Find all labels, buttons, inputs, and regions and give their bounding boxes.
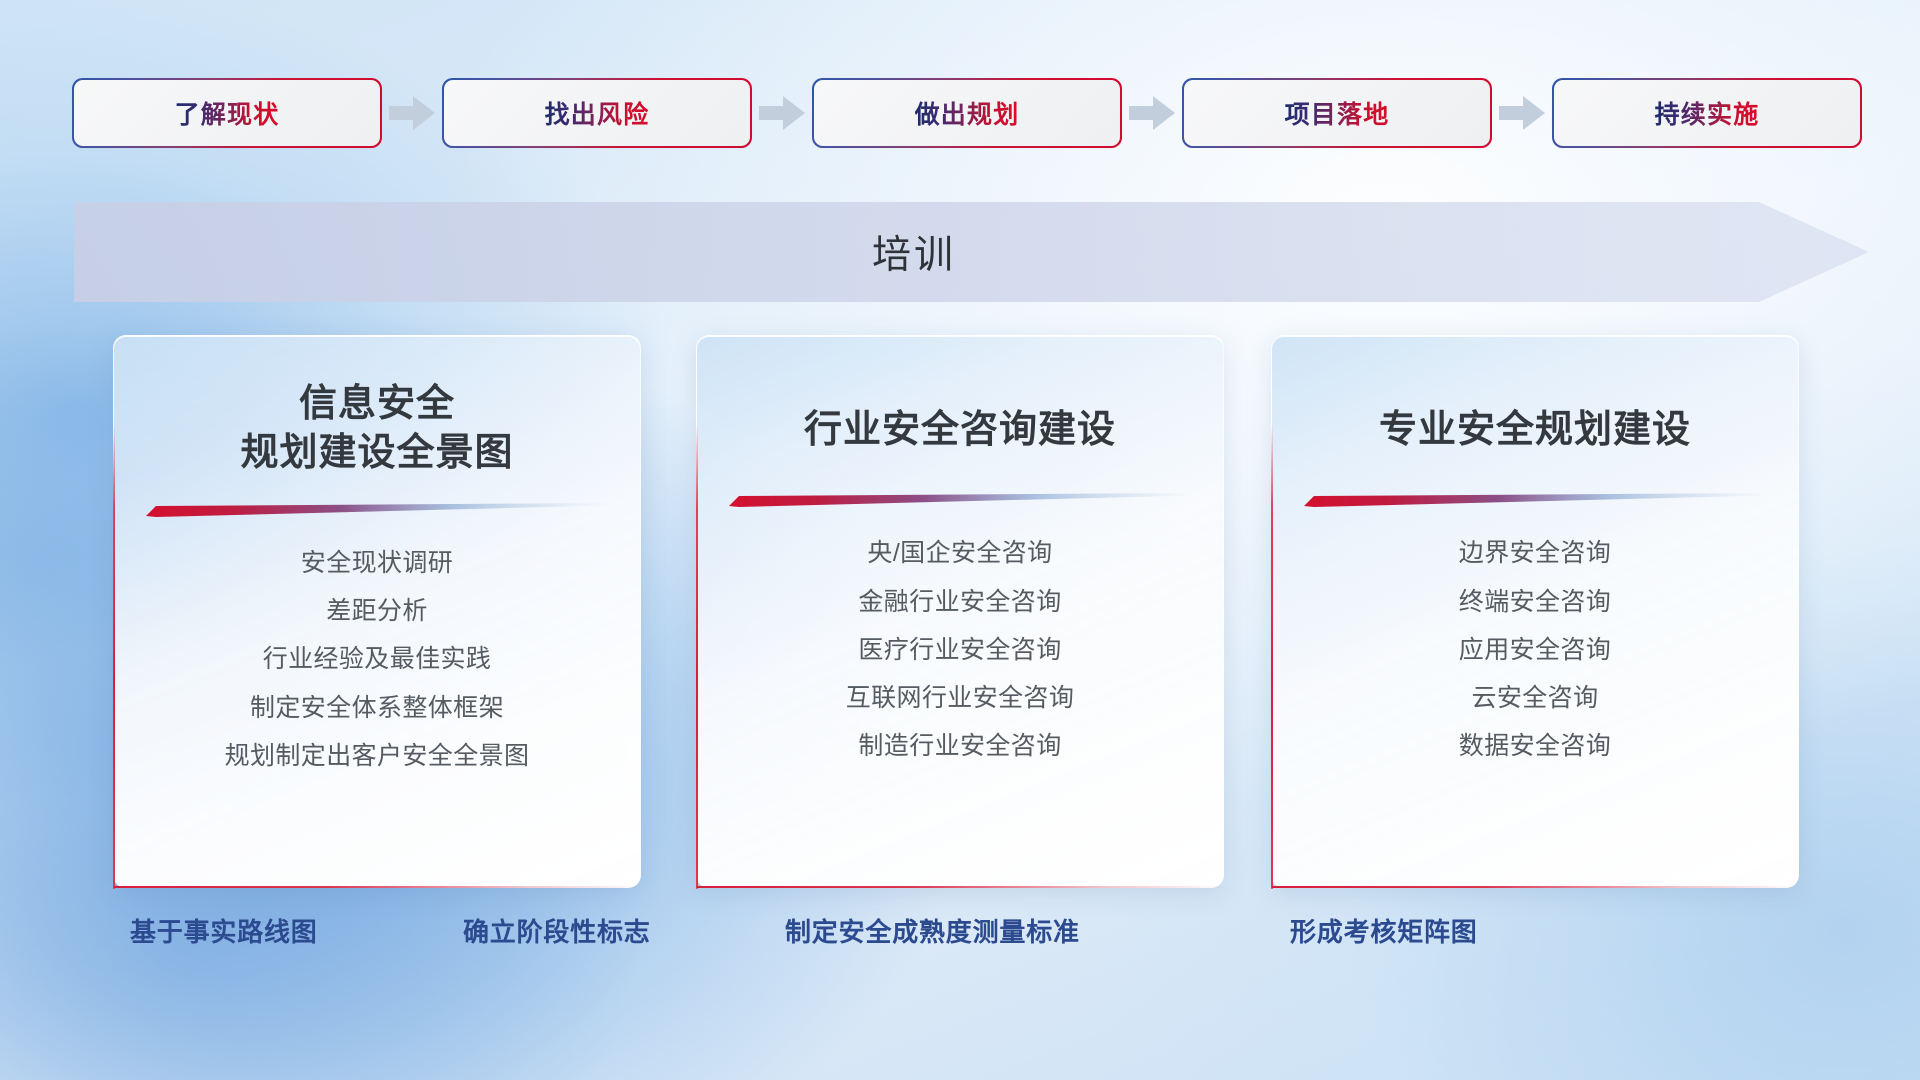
card-info-security-panorama[interactable]: 信息安全 规划建设全景图 — [113, 335, 641, 888]
card-divider-3 — [1304, 493, 1766, 507]
card-list-item: 医疗行业安全咨询 — [858, 632, 1061, 668]
card-list-item: 边界安全咨询 — [1459, 535, 1611, 571]
process-arrow-1 — [380, 80, 444, 146]
card-list-item: 制定安全体系整体框架 — [250, 690, 504, 726]
process-arrow-3 — [1120, 80, 1184, 146]
card-list-item: 规划制定出客户安全全景图 — [225, 738, 530, 774]
caption-roadmap: 基于事实路线图 — [130, 912, 318, 949]
card-list-item: 制造行业安全咨询 — [858, 728, 1061, 764]
process-arrow-2 — [750, 80, 814, 146]
card-industry-security-consulting[interactable]: 行业安全咨询建设 — [696, 335, 1224, 888]
caption-maturity-standard: 制定安全成熟度测量标准 — [785, 912, 1080, 949]
card-list-1: 安全现状调研 差距分析 行业经验及最佳实践 制定安全体系整体框架 规划制定出客户… — [144, 545, 610, 774]
card-list-item: 云安全咨询 — [1471, 680, 1598, 716]
process-step-4-label: 项目落地 — [1285, 95, 1390, 131]
process-step-3-label: 做出规划 — [915, 95, 1020, 131]
card-list-item: 互联网行业安全咨询 — [846, 680, 1075, 716]
card-list-item: 应用安全咨询 — [1459, 632, 1611, 668]
card-list-item: 差距分析 — [326, 593, 428, 629]
card-title-3: 专业安全规划建设 — [1379, 406, 1691, 455]
process-step-row: 了解现状 找出风险 做出规划 项目落地 — [74, 80, 1864, 146]
process-step-1-label: 了解现状 — [175, 95, 280, 131]
caption-row: 基于事实路线图 确立阶段性标志 制定安全成熟度测量标准 形成考核矩阵图 — [0, 912, 1920, 962]
training-banner: 培训 — [74, 202, 1869, 302]
process-step-4[interactable]: 项目落地 — [1184, 80, 1490, 146]
card-professional-security-planning[interactable]: 专业安全规划建设 — [1271, 335, 1799, 888]
process-step-1[interactable]: 了解现状 — [74, 80, 380, 146]
card-list-item: 终端安全咨询 — [1459, 584, 1611, 620]
process-step-5-label: 持续实施 — [1655, 95, 1760, 131]
process-step-3[interactable]: 做出规划 — [814, 80, 1120, 146]
card-list-2: 央/国企安全咨询 金融行业安全咨询 医疗行业安全咨询 互联网行业安全咨询 制造行… — [727, 535, 1193, 764]
caption-milestones: 确立阶段性标志 — [463, 912, 651, 949]
card-divider-1 — [146, 503, 608, 517]
card-row: 信息安全 规划建设全景图 — [0, 335, 1920, 895]
card-list-item: 安全现状调研 — [301, 545, 453, 581]
process-arrow-4 — [1490, 80, 1554, 146]
process-step-5[interactable]: 持续实施 — [1554, 80, 1860, 146]
card-title-2: 行业安全咨询建设 — [804, 406, 1116, 455]
card-list-item: 行业经验及最佳实践 — [263, 641, 492, 677]
card-title-1: 信息安全 规划建设全景图 — [240, 380, 513, 479]
card-list-3: 边界安全咨询 终端安全咨询 应用安全咨询 云安全咨询 数据安全咨询 — [1302, 535, 1768, 764]
card-list-item: 数据安全咨询 — [1459, 728, 1611, 764]
process-step-2-label: 找出风险 — [545, 95, 650, 131]
process-step-2[interactable]: 找出风险 — [444, 80, 750, 146]
card-list-item: 金融行业安全咨询 — [858, 584, 1061, 620]
card-list-item: 央/国企安全咨询 — [867, 535, 1052, 571]
banner-title: 培训 — [74, 202, 1754, 302]
slide-canvas: 了解现状 找出风险 做出规划 项目落地 — [0, 0, 1920, 1080]
card-divider-2 — [729, 493, 1191, 507]
caption-assessment-matrix: 形成考核矩阵图 — [1290, 912, 1478, 949]
